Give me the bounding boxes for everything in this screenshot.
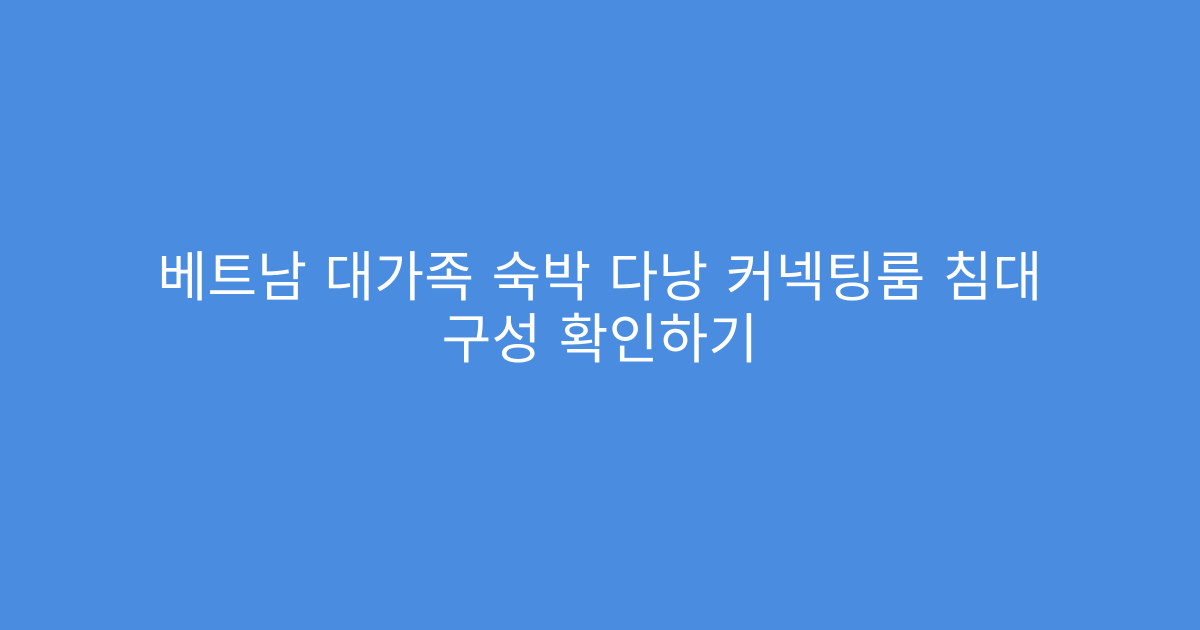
page-title: 베트남 대가족 숙박 다낭 커넥팅룸 침대 구성 확인하기 (110, 247, 1090, 371)
headline-block: 베트남 대가족 숙박 다낭 커넥팅룸 침대 구성 확인하기 (100, 247, 1100, 371)
og-image-card: 베트남 대가족 숙박 다낭 커넥팅룸 침대 구성 확인하기 (0, 0, 1200, 630)
